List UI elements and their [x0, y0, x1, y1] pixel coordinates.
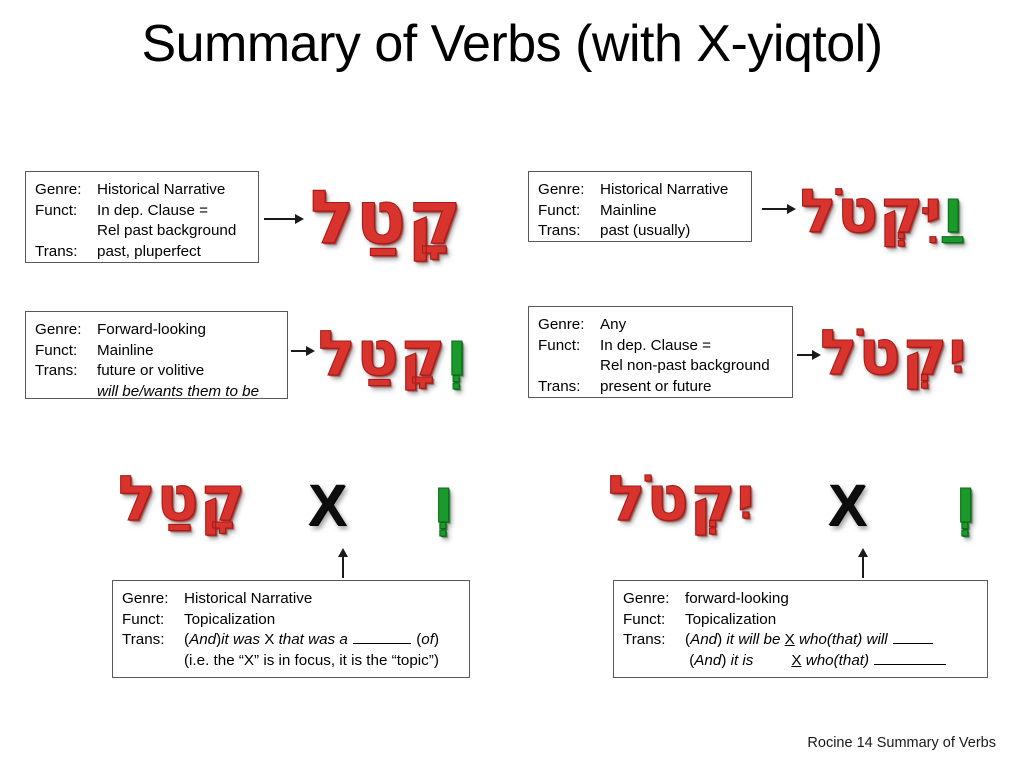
blank-line [893, 643, 933, 644]
wordart-qatal-bottom: קָטַל [118, 468, 246, 530]
wordart-qatal-stem: קָטַל [318, 317, 446, 390]
value-funct: Mainline [97, 341, 154, 362]
info-box-yiqtol: Genre: Any Funct: In dep. Clause = Rel n… [528, 306, 793, 398]
label-trans: Trans: [623, 630, 685, 651]
info-row-trans: Trans: past, pluperfect [35, 242, 248, 263]
wordart-vav-right: וְ [955, 470, 977, 532]
value-trans-line2: (And) it isX who(that) [623, 651, 977, 672]
value-genre: Historical Narrative [97, 180, 225, 201]
label-genre: Genre: [538, 180, 600, 201]
value-genre: Historical Narrative [184, 589, 312, 610]
info-row-trans: Trans: (And) it will be X who(that) will [623, 630, 977, 651]
info-row-funct: Funct: In dep. Clause = [538, 336, 782, 357]
info-box-x-qatal: Genre: Historical Narrative Funct: Topic… [112, 580, 470, 678]
trans-x: X [785, 631, 795, 648]
trans-x: X [791, 652, 801, 669]
arrow-up-icon [336, 548, 350, 578]
arrow-head [787, 204, 796, 214]
info-row-genre: Genre: forward-looking [623, 589, 977, 610]
value-trans: present or future [600, 377, 711, 398]
info-row-funct: Funct: In dep. Clause = [35, 201, 248, 222]
page-title: Summary of Verbs (with X-yiqtol) [0, 14, 1024, 74]
label-funct: Funct: [623, 610, 685, 631]
value-genre: Historical Narrative [600, 180, 728, 201]
trans-itwillbe: it will be [726, 631, 784, 648]
info-row-funct: Funct: Mainline [35, 341, 277, 362]
arrow-head [295, 214, 304, 224]
info-box-wayyiqtol: Genre: Historical Narrative Funct: Mainl… [528, 171, 752, 242]
arrow-right-icon [797, 345, 821, 365]
label-genre: Genre: [623, 589, 685, 610]
info-box-weqatal: Genre: Forward-looking Funct: Mainline T… [25, 311, 288, 399]
wordart-weqatal: וְקָטַל [318, 323, 469, 385]
info-row-funct: Funct: Mainline [538, 201, 741, 222]
arrow-shaft [342, 556, 344, 578]
arrow-shaft [762, 208, 788, 210]
label-funct: Funct: [35, 341, 97, 362]
trans-whothat: who(that) [802, 652, 874, 669]
value-funct: Topicalization [184, 610, 275, 631]
value-genre: forward-looking [685, 589, 789, 610]
arrow-head [306, 346, 315, 356]
arrow-shaft [862, 556, 864, 578]
wordart-x-left: X [308, 477, 347, 535]
wordart-x-right: X [828, 477, 867, 535]
label-trans: Trans: [35, 361, 97, 382]
value-trans: past, pluperfect [97, 242, 201, 263]
blank-line [353, 643, 411, 644]
wordart-wayyiqtol: וַיִּקְטֹל [800, 182, 965, 242]
info-box-qatal: Genre: Historical Narrative Funct: In de… [25, 171, 259, 263]
value-genre: Any [600, 315, 626, 336]
wordart-yiqtol-bottom: יִקְטֹל [608, 468, 756, 530]
value-trans: future or volitive [97, 361, 204, 382]
label-genre: Genre: [538, 315, 600, 336]
wordart-yiqtol-stem: יִּקְטֹל [800, 177, 943, 247]
value-funct-continuation: Rel past background [35, 221, 248, 242]
wordart-yiqtol: יִקְטֹל [820, 322, 968, 384]
arrow-up-icon [856, 548, 870, 578]
arrow-shaft [264, 218, 296, 220]
wordart-vav-conversive: וַ [943, 177, 965, 247]
value-trans-line1: (And) it will be X who(that) will [685, 630, 934, 651]
info-row-genre: Genre: Historical Narrative [35, 180, 248, 201]
label-genre: Genre: [122, 589, 184, 610]
value-trans-continuation: (i.e. the “X” is in focus, it is the “to… [122, 651, 459, 672]
info-row-trans: Trans: future or volitive [35, 361, 277, 382]
label-funct: Funct: [538, 201, 600, 222]
wordart-vav-left: וְ [433, 470, 455, 532]
info-row-genre: Genre: Historical Narrative [122, 589, 459, 610]
trans-whothat-will: who(that) will [795, 631, 892, 648]
wordart-qatal: קָטַל [310, 181, 463, 255]
slide-footer: Rocine 14 Summary of Verbs [807, 735, 996, 751]
label-funct: Funct: [35, 201, 97, 222]
value-trans: past (usually) [600, 221, 690, 242]
label-trans: Trans: [122, 630, 184, 651]
trans-and: And [690, 631, 717, 648]
value-trans-continuation: will be/wants them to be [35, 382, 277, 403]
arrow-shaft [797, 354, 813, 356]
info-row-genre: Genre: Any [538, 315, 782, 336]
label-trans: Trans: [35, 242, 97, 263]
info-row-trans: Trans: present or future [538, 377, 782, 398]
value-genre: Forward-looking [97, 320, 206, 341]
label-funct: Funct: [538, 336, 600, 357]
arrow-right-icon [291, 341, 315, 361]
value-funct: Topicalization [685, 610, 776, 631]
label-genre: Genre: [35, 320, 97, 341]
info-row-genre: Genre: Forward-looking [35, 320, 277, 341]
label-trans: Trans: [538, 377, 600, 398]
trans-itwas: it was [221, 631, 264, 648]
arrow-right-icon [264, 209, 304, 229]
trans-of: of [421, 631, 434, 648]
trans-itis: it is [731, 652, 754, 669]
info-row-funct: Funct: Topicalization [122, 610, 459, 631]
trans-and: And [694, 652, 721, 669]
info-row-trans: Trans: (And)it was X that was a (of) [122, 630, 459, 651]
arrow-right-icon [762, 199, 796, 219]
trans-x: X [264, 631, 274, 648]
arrow-shaft [291, 350, 307, 352]
info-box-x-yiqtol: Genre: forward-looking Funct: Topicaliza… [613, 580, 988, 678]
info-row-genre: Genre: Historical Narrative [538, 180, 741, 201]
value-trans: (And)it was X that was a (of) [184, 630, 439, 651]
trans-and: And [189, 631, 216, 648]
value-funct: Mainline [600, 201, 657, 222]
label-trans: Trans: [538, 221, 600, 242]
trans-thatwasa: that was a [274, 631, 352, 648]
label-funct: Funct: [122, 610, 184, 631]
info-row-funct: Funct: Topicalization [623, 610, 977, 631]
wordart-vav-conjunctive: וְ [446, 317, 468, 390]
value-funct: In dep. Clause = [600, 336, 711, 357]
blank-line [874, 664, 946, 665]
label-genre: Genre: [35, 180, 97, 201]
value-funct-continuation: Rel non-past background [538, 356, 782, 377]
info-row-trans: Trans: past (usually) [538, 221, 741, 242]
value-funct: In dep. Clause = [97, 201, 208, 222]
